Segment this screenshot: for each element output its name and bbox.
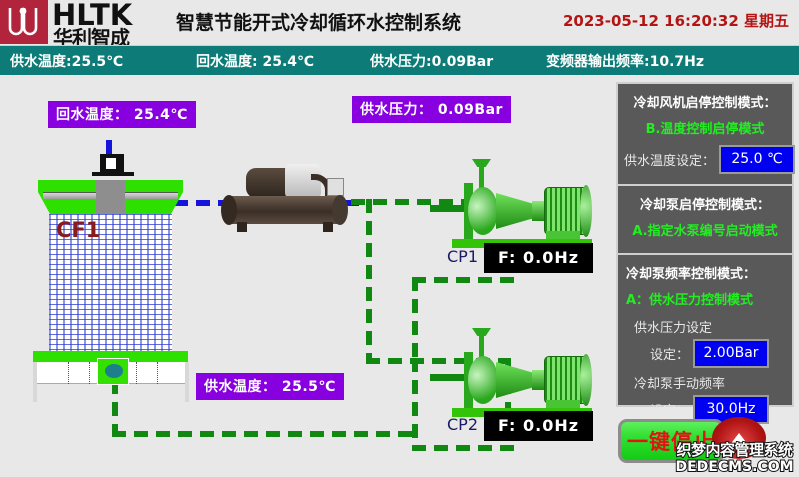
chiller-shell [227,196,344,224]
supply-pipe-to-cp1 [412,277,522,283]
cooling-tower-label: CF1 [56,218,100,242]
tower-leg-right [185,362,189,402]
tower-fan-motor-mount [92,172,134,176]
supply-water-temp-tag: 供水温度： 25.5℃ [196,373,344,400]
cp2-adapter-cone [496,362,536,398]
tower-sump-pump-icon [105,364,123,378]
fan-control-mode: B.温度控制启停模式 [624,113,786,143]
chiller-unit[interactable] [219,162,351,234]
cp2-tag-label: CP2 [447,415,478,434]
page-title: 智慧节能开式冷却循环水控制系统 [176,8,461,35]
supply-pipe-vertical-main [366,199,372,364]
cp2-motor-end-cap [580,354,592,406]
cooling-tower-cf1[interactable]: CF1 [38,180,183,385]
status-supply-water-pressure: 供水压力:0.09Bar [370,51,493,71]
cp2-inlet-pipe [430,374,468,381]
supply-pipe-vertical-cp1-branch [412,277,418,365]
control-panel: 冷却风机启停控制模式： B.温度控制启停模式 供水温度设定： 25.0 ℃ 冷却… [616,82,794,407]
status-bar: 供水温度:25.5℃ 回水温度: 25.4℃ 供水压力:0.09Bar 变频器输… [0,45,799,75]
pressure-setpoint-value[interactable]: 2.00Bar [693,339,769,368]
basin-nozzle-left [68,362,90,384]
pump-frequency-section: 冷却泵频率控制模式： A：供水压力控制模式 供水压力设定 设定： 2.00Bar… [618,255,792,434]
status-supply-water-temp: 供水温度:25.5℃ [10,51,123,71]
fan-setpoint-value[interactable]: 25.0 ℃ [719,145,795,174]
cp1-adapter-cone [496,193,536,229]
cp1-frequency-display: F: 0.0Hz [484,243,593,273]
pressure-setpoint-group-label: 供水压力设定 [624,314,786,337]
manual-frequency-group-label: 冷却泵手动频率 [624,370,786,393]
tower-fan-motor-core-icon [106,158,116,169]
tower-fan-blade-right [122,192,178,199]
cp1-volute [468,187,498,235]
chiller-control-panel-icon [327,178,344,196]
supply-pipe-bottom-run [112,431,412,437]
supply-pipe-to-cp2 [412,445,522,451]
cp2-frequency-display: F: 0.0Hz [484,411,593,441]
return-water-temp-tag: 回水温度： 25.4℃ [48,101,196,128]
pump-start-section: 冷却泵启停控制模式： A.指定水泵编号启动模式 [618,186,792,255]
status-inverter-output-frequency: 变频器输出频率:10.7Hz [546,51,704,71]
pump-frequency-title: 冷却泵频率控制模式： [624,261,786,284]
company-logo-block [0,0,48,44]
cp1-motor-end-cap [580,185,592,237]
pump-start-title: 冷却泵启停控制模式： [624,192,786,215]
basin-nozzle-right [136,362,158,384]
pump-frequency-mode: A：供水压力控制模式 [624,284,786,314]
tower-fan-blade-left [43,192,99,199]
tower-leg-left [33,362,37,402]
chiller-end-cap-left [221,195,237,225]
tower-fan-hub [96,180,125,216]
cp1-inlet-pipe [430,205,468,212]
fan-control-section: 冷却风机启停控制模式： B.温度控制启停模式 供水温度设定： 25.0 ℃ [618,84,792,186]
status-return-water-temp: 回水温度: 25.4℃ [196,51,314,71]
pressure-setpoint-row: 设定： 2.00Bar [624,337,786,370]
supply-pipe-vertical-cp2-branch [412,358,418,449]
app-header: HLTK 华利智成 智慧节能开式冷却循环水控制系统 2023-05-12 16:… [0,0,799,45]
supply-water-pressure-tag: 供水压力： 0.09Bar [352,96,511,123]
fan-control-title: 冷却风机启停控制模式： [624,90,786,113]
cp2-valve-stem [479,334,484,358]
emergency-stop-button[interactable]: 一键停止 [618,419,724,463]
chiller-leg-left [237,222,247,232]
pressure-setpoint-label: 设定： [650,344,689,363]
cp1-tag-label: CP1 [447,247,478,266]
datetime-display: 2023-05-12 16:20:32 星期五 [563,10,789,31]
hltk-logo-icon [8,6,40,36]
cp2-volute [468,356,498,404]
fan-setpoint-row: 供水温度设定： 25.0 ℃ [624,143,786,176]
supply-pipe-tower-outlet [112,380,118,437]
pump-start-mode: A.指定水泵编号启动模式 [624,215,786,245]
fan-setpoint-label: 供水温度设定： [624,150,715,169]
chiller-leg-right [323,222,333,232]
chiller-end-cap-right [332,195,348,225]
cp1-valve-stem [479,165,484,189]
manual-frequency-label: 设定： [650,400,689,419]
